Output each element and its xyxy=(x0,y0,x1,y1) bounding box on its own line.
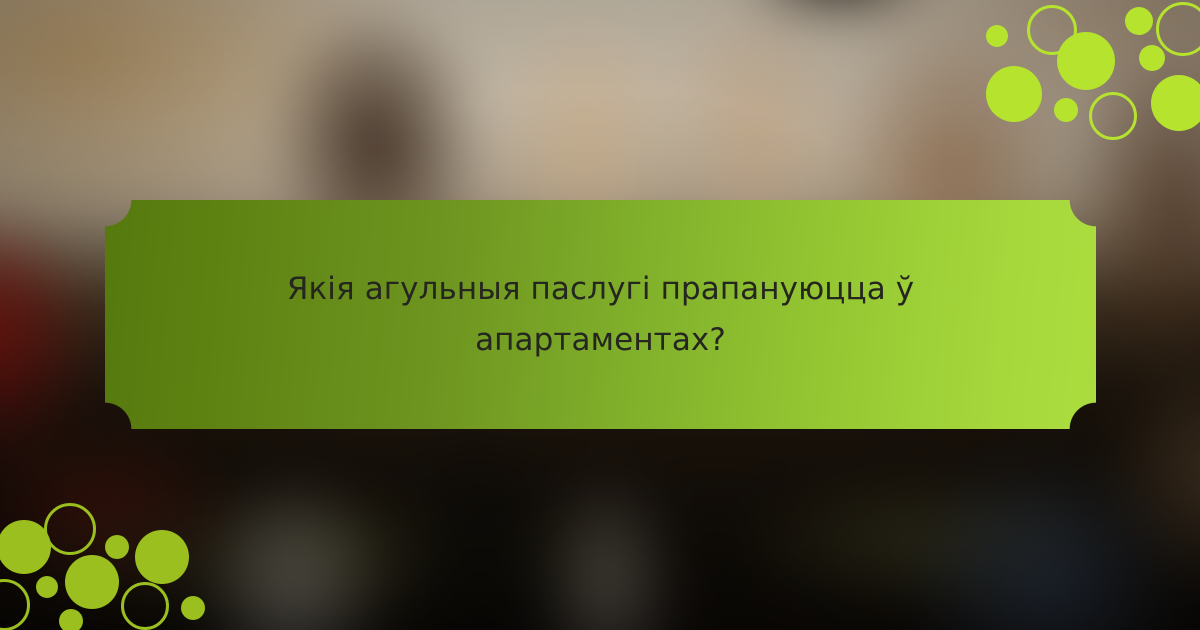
decorative-dot xyxy=(1156,2,1200,56)
decorative-dot xyxy=(1089,92,1137,140)
decorative-dots-bottom-left xyxy=(0,485,240,630)
decorative-dot xyxy=(36,576,58,598)
decorative-dot xyxy=(59,609,83,630)
share-card-canvas: Якія агульныя паслугі прапануюцца ў апар… xyxy=(0,0,1200,630)
decorative-dot xyxy=(986,66,1042,122)
decorative-dot xyxy=(44,503,96,555)
decorative-dot xyxy=(1151,75,1200,131)
decorative-dot xyxy=(121,582,169,630)
decorative-dot xyxy=(986,25,1008,47)
decorative-dot xyxy=(0,520,51,574)
decorative-dot xyxy=(65,555,119,609)
decorative-dot xyxy=(1125,7,1153,35)
question-card: Якія агульныя паслугі прапануюцца ў апар… xyxy=(105,200,1096,429)
decorative-dot xyxy=(1139,45,1165,71)
decorative-dot xyxy=(1057,32,1115,90)
decorative-dot xyxy=(181,596,205,620)
decorative-dot xyxy=(135,530,189,584)
question-text: Якія агульныя паслугі прапануюцца ў апар… xyxy=(251,264,951,364)
decorative-dots-top-right xyxy=(980,0,1200,130)
decorative-dot xyxy=(105,535,129,559)
decorative-dot xyxy=(0,579,30,630)
decorative-dot xyxy=(1054,98,1078,122)
